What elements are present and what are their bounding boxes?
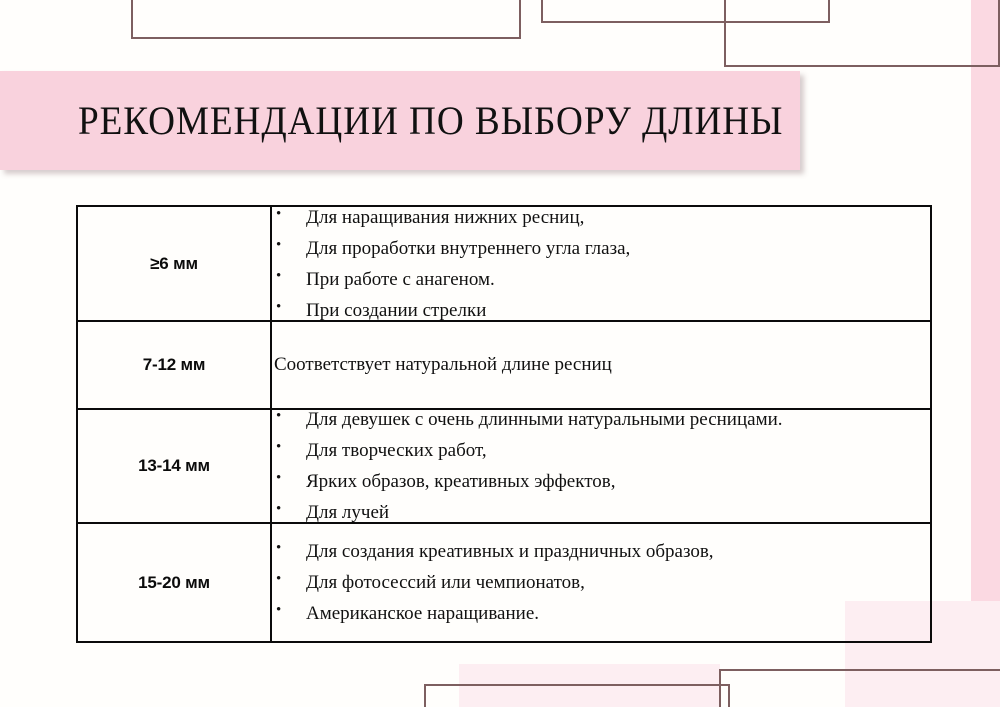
length-range-cell: 13-14 мм — [77, 409, 271, 523]
table-row: ≥6 мм Для наращивания нижних ресниц, Для… — [77, 206, 931, 321]
table-body: ≥6 мм Для наращивания нижних ресниц, Для… — [77, 206, 931, 642]
list-item: Американское наращивание. — [272, 604, 930, 623]
list-item: Для фотосессий или чемпионатов, — [272, 573, 930, 592]
slide-canvas: РЕКОМЕНДАЦИИ ПО ВЫБОРУ ДЛИНЫ ≥6 мм Для н… — [0, 0, 1000, 707]
description-cell: Соответствует натуральной длине ресниц — [271, 321, 931, 409]
length-recommendation-table: ≥6 мм Для наращивания нижних ресниц, Для… — [76, 205, 932, 643]
list-item: Для наращивания нижних ресниц, — [272, 208, 930, 227]
list-item: При создании стрелки — [272, 301, 930, 320]
length-range-cell: ≥6 мм — [77, 206, 271, 321]
bullet-list: Для наращивания нижних ресниц, Для прора… — [272, 208, 930, 320]
description-cell: Для девушек с очень длинными натуральным… — [271, 409, 931, 523]
table-row: 7-12 мм Соответствует натуральной длине … — [77, 321, 931, 409]
decorative-frame-top-right-lower — [724, 0, 1000, 67]
length-range-cell: 15-20 мм — [77, 523, 271, 642]
list-item: Для проработки внутреннего угла глаза, — [272, 239, 930, 258]
list-item: Для девушек с очень длинными натуральным… — [272, 410, 930, 429]
decorative-frame-bottom-left — [424, 684, 730, 707]
list-item: Для творческих работ, — [272, 441, 930, 460]
list-item: Ярких образов, креативных эффектов, — [272, 472, 930, 491]
length-range-cell: 7-12 мм — [77, 321, 271, 409]
description-cell: Для создания креативных и праздничных об… — [271, 523, 931, 642]
decorative-frame-bottom-right — [719, 669, 1000, 707]
list-item: Для лучей — [272, 503, 930, 522]
bullet-list: Для девушек с очень длинными натуральным… — [272, 410, 930, 522]
title-banner: РЕКОМЕНДАЦИИ ПО ВЫБОРУ ДЛИНЫ — [0, 71, 800, 170]
list-item: При работе с анагеном. — [272, 270, 930, 289]
bullet-list: Для создания креативных и праздничных об… — [272, 542, 930, 623]
table-row: 15-20 мм Для создания креативных и празд… — [77, 523, 931, 642]
description-text: Соответствует натуральной длине ресниц — [272, 354, 930, 376]
table-row: 13-14 мм Для девушек с очень длинными на… — [77, 409, 931, 523]
list-item: Для создания креативных и праздничных об… — [272, 542, 930, 561]
description-cell: Для наращивания нижних ресниц, Для прора… — [271, 206, 931, 321]
decorative-frame-top-left — [131, 0, 521, 39]
page-title: РЕКОМЕНДАЦИИ ПО ВЫБОРУ ДЛИНЫ — [78, 97, 783, 144]
